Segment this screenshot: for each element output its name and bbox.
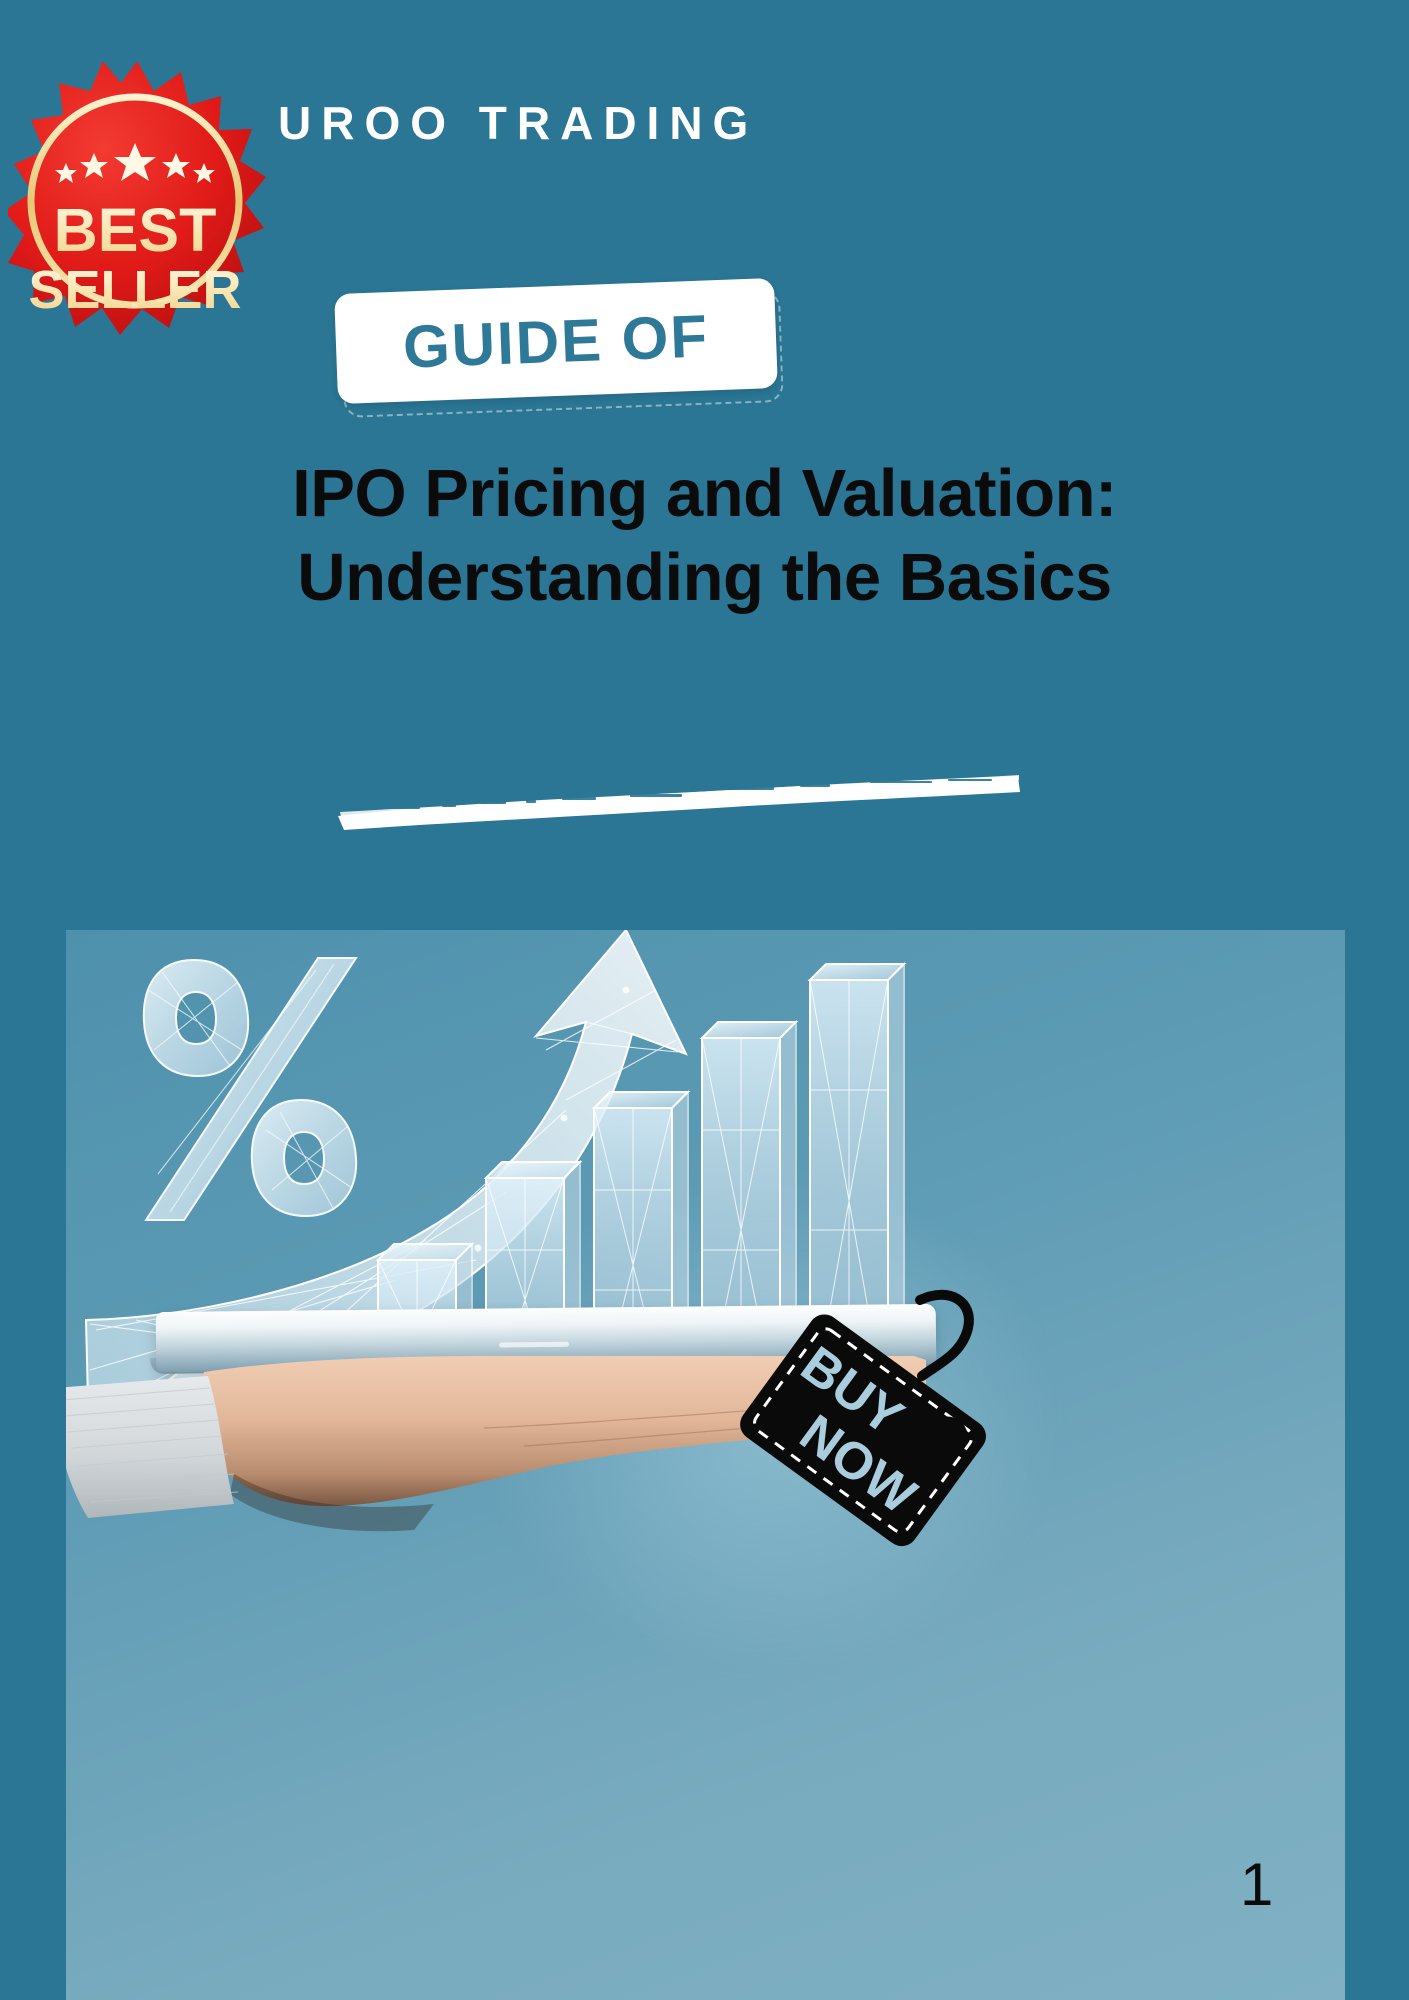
badge-line1: BEST <box>54 196 217 264</box>
percent-symbol <box>144 958 356 1220</box>
page-title: IPO Pricing and Valuation: Understanding… <box>0 452 1409 620</box>
best-seller-badge: BEST SELLER <box>8 55 266 355</box>
plaque-card: GUIDE OF <box>334 278 778 404</box>
brand-title: UROO TRADING <box>278 96 758 150</box>
cover-page: BEST SELLER UROO TRADING GUIDE OF IPO Pr… <box>0 0 1409 2000</box>
plaque-label: GUIDE OF <box>402 301 710 381</box>
cover-illustration: BUY NOW <box>66 930 1345 2000</box>
page-title-line2: Understanding the Basics <box>0 536 1409 620</box>
page-title-line1: IPO Pricing and Valuation: <box>0 452 1409 536</box>
brush-underline <box>330 770 1020 840</box>
page-number: 1 <box>1240 1850 1273 1919</box>
buy-now-tag[interactable]: BUY NOW <box>706 1280 1006 1580</box>
tag-string <box>920 1295 969 1376</box>
guide-of-plaque: GUIDE OF <box>336 286 784 414</box>
badge-line2: SELLER <box>28 260 241 320</box>
